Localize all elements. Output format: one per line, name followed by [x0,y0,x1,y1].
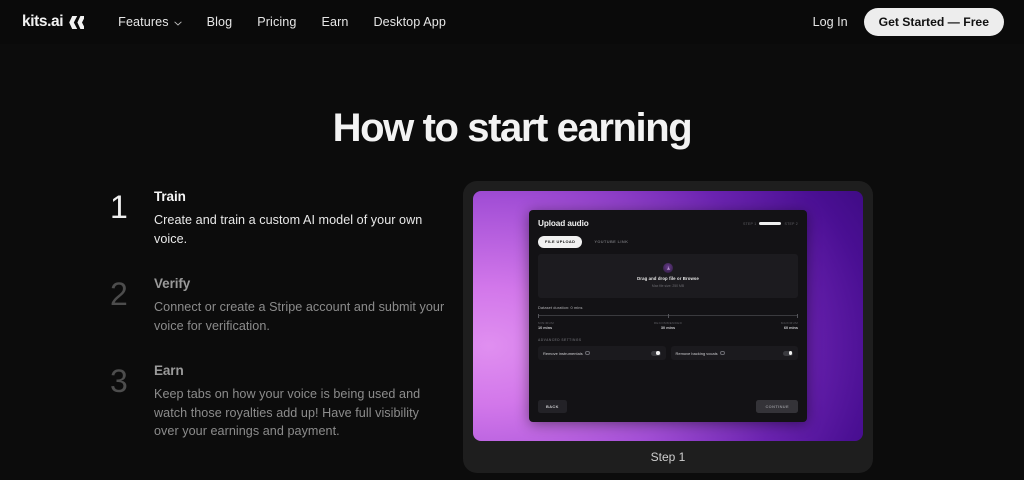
step-description: Create and train a custom AI model of yo… [154,211,446,248]
nav-link-features-label: Features [118,15,169,29]
step-item-2: 2 Verify Connect or create a Stripe acco… [110,276,455,335]
brand-name: kits.ai [22,13,63,31]
toggle-label-group: Remove instrumentals [543,351,590,356]
info-icon[interactable] [585,351,589,355]
step-progress-indicator: STEP 1 STEP 2 [743,222,798,226]
step-number: 3 [110,363,132,441]
step-title: Verify [154,276,446,291]
nav-link-desktop-app-label: Desktop App [373,15,446,29]
step-title: Train [154,189,446,204]
progress-label-left: STEP 1 [743,222,757,226]
scale-recommended-caption: RECOMMENDED [625,321,711,325]
steps-list: 1 Train Create and train a custom AI mod… [0,181,455,473]
kits-logo-mark-icon [69,16,84,29]
nav-links: Features Blog Pricing Earn Desktop App [118,15,446,29]
login-link[interactable]: Log In [813,15,848,29]
step-description: Keep tabs on how your voice is being use… [154,385,446,441]
step-text: Earn Keep tabs on how your voice is bein… [154,363,446,441]
nav-link-pricing[interactable]: Pricing [257,15,296,29]
toggle-label-group: Remove backing vocals [676,351,725,356]
tab-file-upload[interactable]: FILE UPLOAD [538,236,582,248]
step-number: 1 [110,189,132,248]
advanced-settings-label: ADVANCED SETTINGS [529,330,807,342]
step-description: Connect or create a Stripe account and s… [154,298,446,335]
tab-youtube-link[interactable]: YOUTUBE LINK [587,236,635,248]
scale-minimum-caption: MINIMUM [538,321,624,325]
dataset-duration-label: Dataset duration: 0 mins [529,298,807,310]
nav-link-desktop-app[interactable]: Desktop App [373,15,446,29]
scale-minimum-value: 10 mins [538,326,624,330]
app-footer-actions: BACK CONTINUE [529,400,807,422]
toggle-label: Remove backing vocals [676,351,718,356]
toggle-switch[interactable] [783,351,793,356]
advanced-settings-toggles: Remove instrumentals Remove backing voca… [529,342,807,360]
step-title: Earn [154,363,446,378]
scale-maximum: MAXIMUM 60 mins [712,321,798,331]
toggle-switch[interactable] [651,351,661,356]
upload-source-tabs: FILE UPLOAD YOUTUBE LINK [529,228,807,248]
nav-link-blog-label: Blog [207,15,233,29]
nav-link-features[interactable]: Features [118,15,182,29]
back-button[interactable]: BACK [538,400,567,413]
duration-scale: MINIMUM 10 mins RECOMMENDED 30 mins MAXI… [529,310,807,331]
main-content: 1 Train Create and train a custom AI mod… [0,181,1024,473]
brand-logo[interactable]: kits.ai [22,13,84,31]
top-navigation-bar: kits.ai Features Blog Pricing Earn Deskt… [0,0,1024,44]
scale-maximum-caption: MAXIMUM [712,321,798,325]
get-started-button[interactable]: Get Started — Free [864,8,1004,36]
toggle-remove-backing-vocals[interactable]: Remove backing vocals [671,346,799,360]
scale-tick-min [538,314,539,318]
app-header: Upload audio STEP 1 STEP 2 [529,210,807,228]
nav-actions: Log In Get Started — Free [813,8,1004,36]
dropzone-title: Drag and drop file or Browse [637,276,699,281]
scale-minimum: MINIMUM 10 mins [538,321,624,331]
scale-tick-max [797,314,798,318]
scale-recommended: RECOMMENDED 30 mins [625,321,711,331]
nav-link-earn-label: Earn [321,15,348,29]
scale-track [538,314,798,318]
app-title: Upload audio [538,219,589,228]
nav-link-pricing-label: Pricing [257,15,296,29]
step-text: Train Create and train a custom AI model… [154,189,446,248]
upload-cloud-icon [663,263,673,273]
scale-recommended-value: 30 mins [625,326,711,330]
progress-bar [759,222,781,225]
dropzone-subtitle: Max file size: 250 MB [652,284,684,288]
showcase-caption: Step 1 [473,441,863,473]
file-dropzone[interactable]: Drag and drop file or Browse Max file si… [538,254,798,298]
showcase-panel: Upload audio STEP 1 STEP 2 FILE UPLOAD Y… [463,181,873,473]
step-item-1: 1 Train Create and train a custom AI mod… [110,189,455,248]
toggle-label: Remove instrumentals [543,351,583,356]
step-item-3: 3 Earn Keep tabs on how your voice is be… [110,363,455,441]
toggle-remove-instrumentals[interactable]: Remove instrumentals [538,346,666,360]
chevron-down-icon [174,15,182,29]
showcase-gradient-frame: Upload audio STEP 1 STEP 2 FILE UPLOAD Y… [473,191,863,441]
step-number: 2 [110,276,132,335]
progress-label-right: STEP 2 [784,222,798,226]
scale-labels: MINIMUM 10 mins RECOMMENDED 30 mins MAXI… [538,318,798,331]
page-title: How to start earning [0,106,1024,151]
nav-link-earn[interactable]: Earn [321,15,348,29]
step-text: Verify Connect or create a Stripe accoun… [154,276,446,335]
info-icon[interactable] [720,351,724,355]
continue-button[interactable]: CONTINUE [756,400,798,413]
upload-audio-app-screenshot: Upload audio STEP 1 STEP 2 FILE UPLOAD Y… [529,210,807,422]
nav-link-blog[interactable]: Blog [207,15,233,29]
scale-maximum-value: 60 mins [712,326,798,330]
scale-tick-recommended [668,314,669,318]
